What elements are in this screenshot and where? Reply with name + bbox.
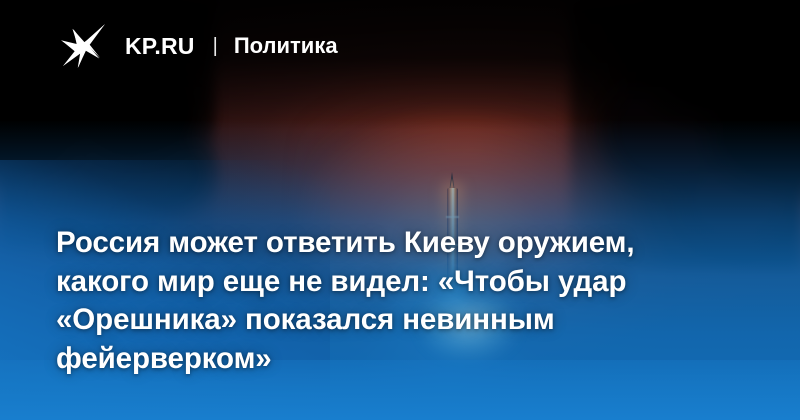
headline: Россия может ответить Киеву оружием, как… (56, 224, 706, 378)
headline-line-4: фейерверком» (56, 340, 706, 379)
rubric-politika[interactable]: Политика (234, 35, 338, 57)
social-share-card: KP.RU | Политика Россия может ответить К… (0, 0, 800, 420)
headline-line-2: какого мир еще не видел: «Чтобы удар (56, 263, 706, 302)
brand-header: KP.RU | Политика (58, 22, 338, 70)
headline-line-3: «Орешника» показался невинным (56, 301, 706, 340)
headline-line-1: Россия может ответить Киеву оружием, (56, 224, 706, 263)
header-separator: | (213, 36, 218, 56)
kp-swallow-bird-logo-icon[interactable] (58, 23, 108, 69)
brand-name[interactable]: KP.RU (125, 35, 195, 58)
